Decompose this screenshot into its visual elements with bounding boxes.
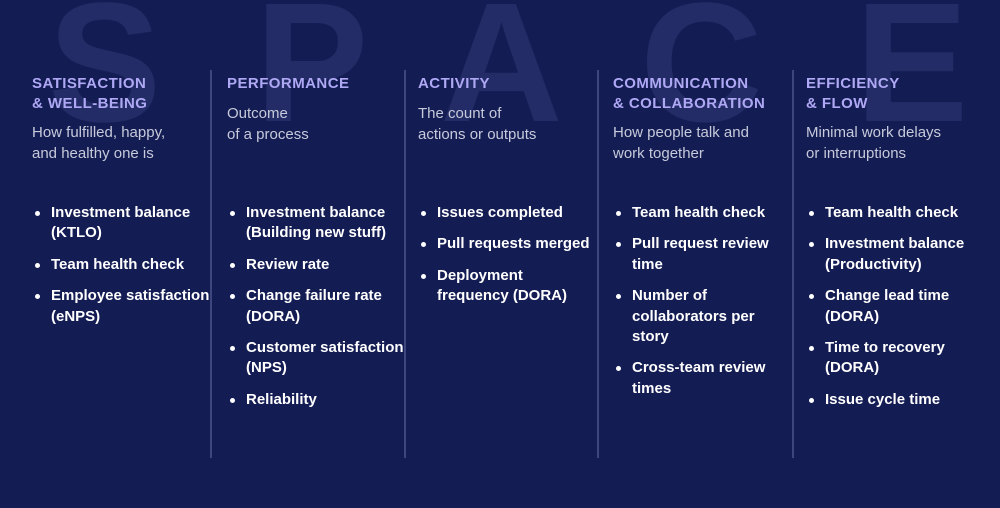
column-performance: PERFORMANCE Outcome of a process Investm… (210, 0, 404, 508)
column-satisfaction-well-being: SATISFACTION & WELL-BEING How fulfilled,… (0, 0, 210, 508)
list-item: Issues completed (418, 203, 598, 223)
column-title: EFFICIENCY & FLOW (806, 74, 990, 113)
list-item: Team health check (806, 203, 1000, 223)
column-description: The count of actions or outputs (418, 103, 587, 146)
list-item: Number of collaborators per story (613, 286, 793, 347)
column-title: PERFORMANCE (227, 74, 392, 94)
list-item: Review rate (227, 255, 405, 275)
column-metric-list: Investment balance (Building new stuff) … (227, 203, 405, 410)
column-metric-list: Team health check Pull request review ti… (613, 203, 793, 399)
list-item: Investment balance (KTLO) (32, 203, 212, 244)
column-description: How fulfilled, happy, and healthy one is (32, 122, 196, 165)
column-divider (597, 70, 599, 458)
list-item: Change failure rate (DORA) (227, 286, 405, 327)
list-item: Team health check (613, 203, 793, 223)
list-item: Reliability (227, 390, 405, 410)
column-divider (792, 70, 794, 458)
space-framework-columns: SATISFACTION & WELL-BEING How fulfilled,… (0, 0, 1000, 508)
column-efficiency-flow: EFFICIENCY & FLOW Minimal work delays or… (792, 0, 1000, 508)
column-description: Minimal work delays or interruptions (806, 122, 990, 165)
column-metric-list: Investment balance (KTLO) Team health ch… (32, 203, 212, 327)
list-item: Customer satisfaction (NPS) (227, 338, 405, 379)
list-item: Change lead time (DORA) (806, 286, 1000, 327)
column-communication-collaboration: COMMUNICATION & COLLABORATION How people… (597, 0, 792, 508)
list-item: Investment balance (Productivity) (806, 234, 1000, 275)
list-item: Employee satisfaction (eNPS) (32, 286, 212, 327)
list-item: Pull request review time (613, 234, 793, 275)
list-item: Issue cycle time (806, 390, 1000, 410)
column-title: SATISFACTION & WELL-BEING (32, 74, 196, 113)
column-metric-list: Issues completed Pull requests merged De… (418, 203, 598, 307)
list-item: Deployment frequency (DORA) (418, 266, 598, 307)
list-item: Team health check (32, 255, 212, 275)
column-title: COMMUNICATION & COLLABORATION (613, 74, 784, 113)
list-item: Investment balance (Building new stuff) (227, 203, 405, 244)
list-item: Cross-team review times (613, 358, 793, 399)
column-description: How people talk and work together (613, 122, 784, 165)
column-title: ACTIVITY (418, 74, 587, 94)
list-item: Time to recovery (DORA) (806, 338, 1000, 379)
column-metric-list: Team health check Investment balance (Pr… (806, 203, 1000, 410)
column-activity: ACTIVITY The count of actions or outputs… (404, 0, 597, 508)
column-description: Outcome of a process (227, 103, 392, 146)
column-divider (210, 70, 212, 458)
column-divider (404, 70, 406, 458)
list-item: Pull requests merged (418, 234, 598, 254)
